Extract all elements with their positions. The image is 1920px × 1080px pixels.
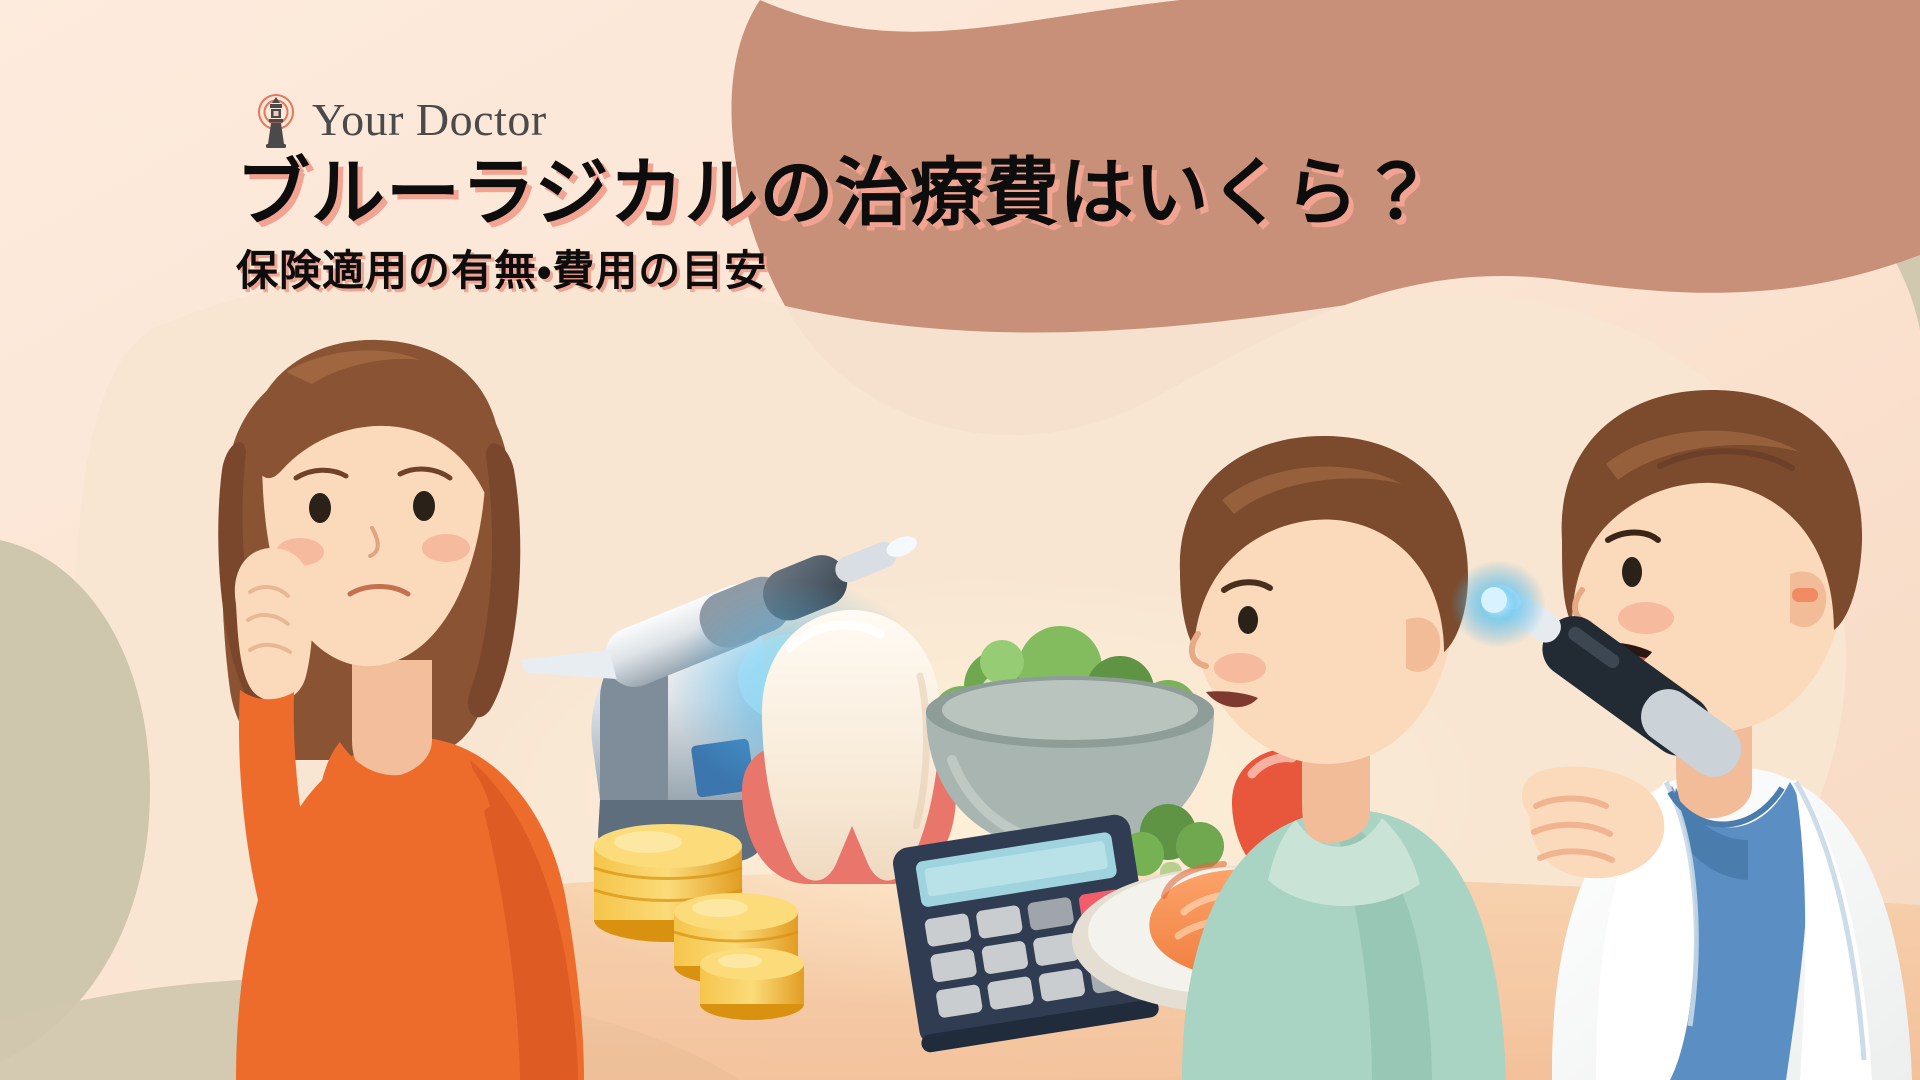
brand-logo[interactable]: Your Doctor [250,92,1556,148]
page-subtitle: 保険適用の有無・費用の目安 [236,246,1556,296]
lighthouse-icon [250,92,302,148]
doctor-hand [1522,766,1664,878]
page-title: ブルーラジカルの治療費はいくら？ [236,154,1556,234]
banner-root: Your Doctor ブルーラジカルの治療費はいくら？ 保険適用の有無・費用の… [0,0,1920,1080]
brand-logo-text: Your Doctor [312,97,547,143]
doctor [1450,390,1912,1080]
header-block: Your Doctor ブルーラジカルの治療費はいくら？ 保険適用の有無・費用の… [236,92,1556,296]
worried-woman [218,340,584,1080]
patient-man [1180,436,1506,1080]
